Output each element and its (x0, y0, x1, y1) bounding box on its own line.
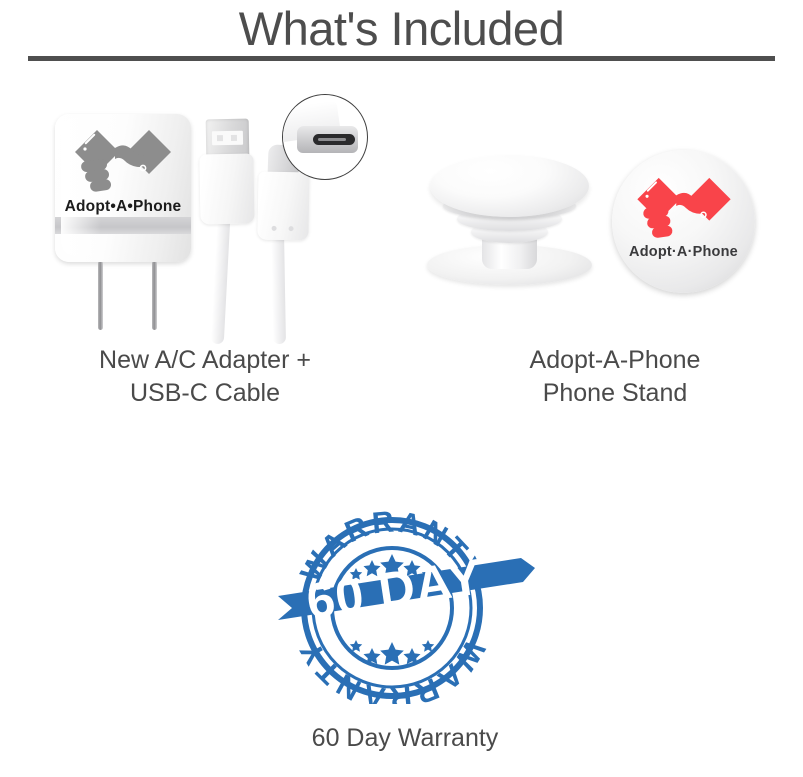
plug-prong-right-icon (152, 262, 157, 330)
handshake-logo-gray-icon (71, 124, 175, 196)
page-header: What's Included (0, 2, 803, 56)
ac-adapter-icon: Adopt•A•Phone (55, 114, 191, 262)
warranty-stamp-icon: WARRANTY WARRANTY 60 DAY (278, 496, 536, 704)
cable-wire-usb-c (271, 234, 286, 344)
logo-button-icon: Adopt·A·Phone (612, 150, 755, 293)
title-divider (28, 56, 775, 61)
usb-c-shell (257, 172, 309, 241)
caption-stand-line1: Adopt-A-Phone (440, 344, 790, 377)
caption-charger: New A/C Adapter + USB-C Cable (20, 344, 390, 410)
plug-prong-left-icon (98, 262, 103, 330)
pop-grip-icon (427, 155, 592, 285)
caption-charger-line1: New A/C Adapter + (20, 344, 390, 377)
caption-stand: Adopt-A-Phone Phone Stand (440, 344, 790, 410)
caption-warranty-line1: 60 Day Warranty (220, 722, 590, 755)
usb-a-shell (199, 154, 254, 225)
pop-grip-top-cap (430, 155, 589, 217)
cable-wire-usb-a (211, 218, 231, 345)
caption-charger-line2: USB-C Cable (20, 377, 390, 410)
inset-connector-port (313, 134, 355, 145)
logo-button-brand-text: Adopt·A·Phone (612, 244, 755, 260)
usb-a-slot (212, 131, 243, 146)
adapter-brand-text: Adopt•A•Phone (55, 198, 191, 216)
page-title: What's Included (0, 2, 803, 56)
handshake-logo-red-icon (632, 172, 736, 242)
usb-cable-icon (182, 92, 387, 342)
caption-stand-line2: Phone Stand (440, 377, 790, 410)
usb-c-connector-inset-icon (282, 94, 368, 180)
whats-included-infographic: What's Included Adopt•A•Phone (0, 0, 803, 777)
caption-warranty: 60 Day Warranty (220, 722, 590, 755)
